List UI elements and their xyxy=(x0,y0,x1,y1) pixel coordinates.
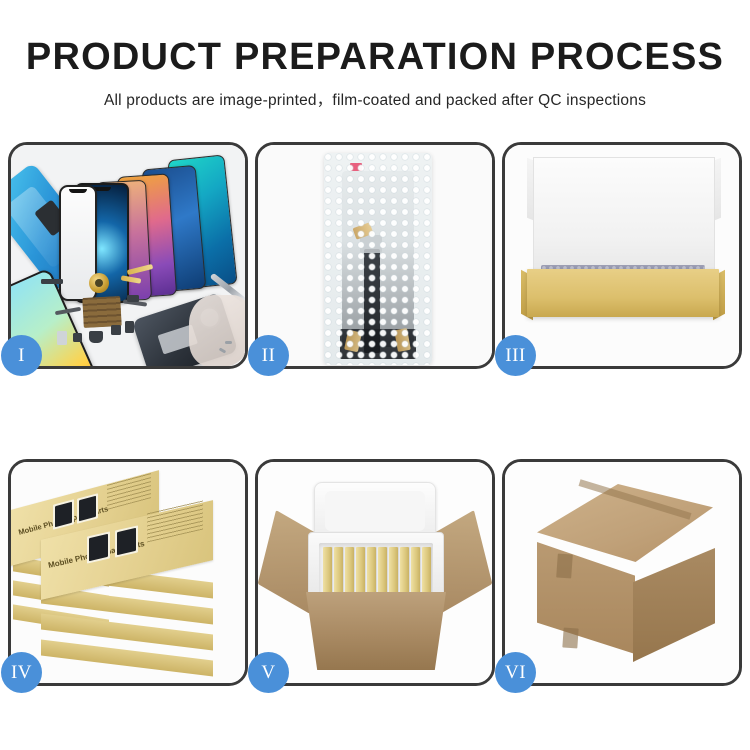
step-panel-2: II xyxy=(255,142,495,369)
packed-box xyxy=(334,547,343,593)
packed-box xyxy=(367,547,376,593)
carton-tape-tab xyxy=(562,628,578,649)
step-image-5 xyxy=(258,462,492,683)
step-panel-6: VI xyxy=(502,459,742,686)
bubble-wrap-package xyxy=(324,153,432,365)
step-badge-3: III xyxy=(495,335,536,376)
small-part xyxy=(73,333,82,342)
step-image-6 xyxy=(505,462,739,683)
small-part xyxy=(89,331,103,343)
packed-box xyxy=(411,547,420,593)
product-preparation-page: PRODUCT PREPARATION PROCESS All products… xyxy=(0,0,750,750)
packed-box xyxy=(400,547,409,593)
step-panel-5: V xyxy=(255,459,495,686)
label-screen-image xyxy=(89,534,108,561)
small-part xyxy=(111,325,121,335)
small-part xyxy=(41,279,63,284)
step-badge-4: IV xyxy=(1,652,42,693)
small-part xyxy=(57,331,67,345)
kraft-tray xyxy=(527,269,719,317)
white-inner-lid xyxy=(533,157,715,277)
carton-tape-tab xyxy=(556,554,573,579)
step-badge-2: II xyxy=(248,335,289,376)
gold-coil-part xyxy=(89,273,109,293)
step-badge-1: I xyxy=(1,335,42,376)
label-screen-image xyxy=(117,528,136,555)
kraft-box-stack: Mobile Phone Spare Parts Mobile Phone Sp… xyxy=(11,468,245,680)
small-part xyxy=(125,321,134,333)
step-panel-3: III xyxy=(502,142,742,369)
foam-cavity xyxy=(319,543,433,597)
page-header: PRODUCT PREPARATION PROCESS All products… xyxy=(0,0,750,109)
step-badge-6: VI xyxy=(495,652,536,693)
step-image-2 xyxy=(258,145,492,366)
packed-box xyxy=(323,547,332,593)
step-image-4: Mobile Phone Spare Parts Mobile Phone Sp… xyxy=(11,462,245,683)
outer-carton-body xyxy=(306,592,446,670)
small-part xyxy=(127,295,139,302)
packed-box xyxy=(422,547,431,593)
phone-notch xyxy=(69,189,87,193)
packed-box xyxy=(356,547,365,593)
page-title: PRODUCT PREPARATION PROCESS xyxy=(0,0,750,76)
step-image-3 xyxy=(505,145,739,366)
screw xyxy=(225,341,232,344)
step-image-1 xyxy=(11,145,245,366)
packed-box xyxy=(378,547,387,593)
step-panel-4: Mobile Phone Spare Parts Mobile Phone Sp… xyxy=(8,459,248,686)
hand xyxy=(189,295,245,366)
step-panel-1: I xyxy=(8,142,248,369)
screw-tray xyxy=(82,296,122,328)
packed-box xyxy=(389,547,398,593)
packed-box xyxy=(345,547,354,593)
process-step-grid: I II xyxy=(8,142,742,686)
step-badge-5: V xyxy=(248,652,289,693)
bubble-texture xyxy=(324,153,432,365)
packed-boxes-row xyxy=(323,547,429,593)
foam-lid-inner xyxy=(325,491,425,531)
page-subtitle: All products are image-printed，film-coat… xyxy=(0,76,750,109)
